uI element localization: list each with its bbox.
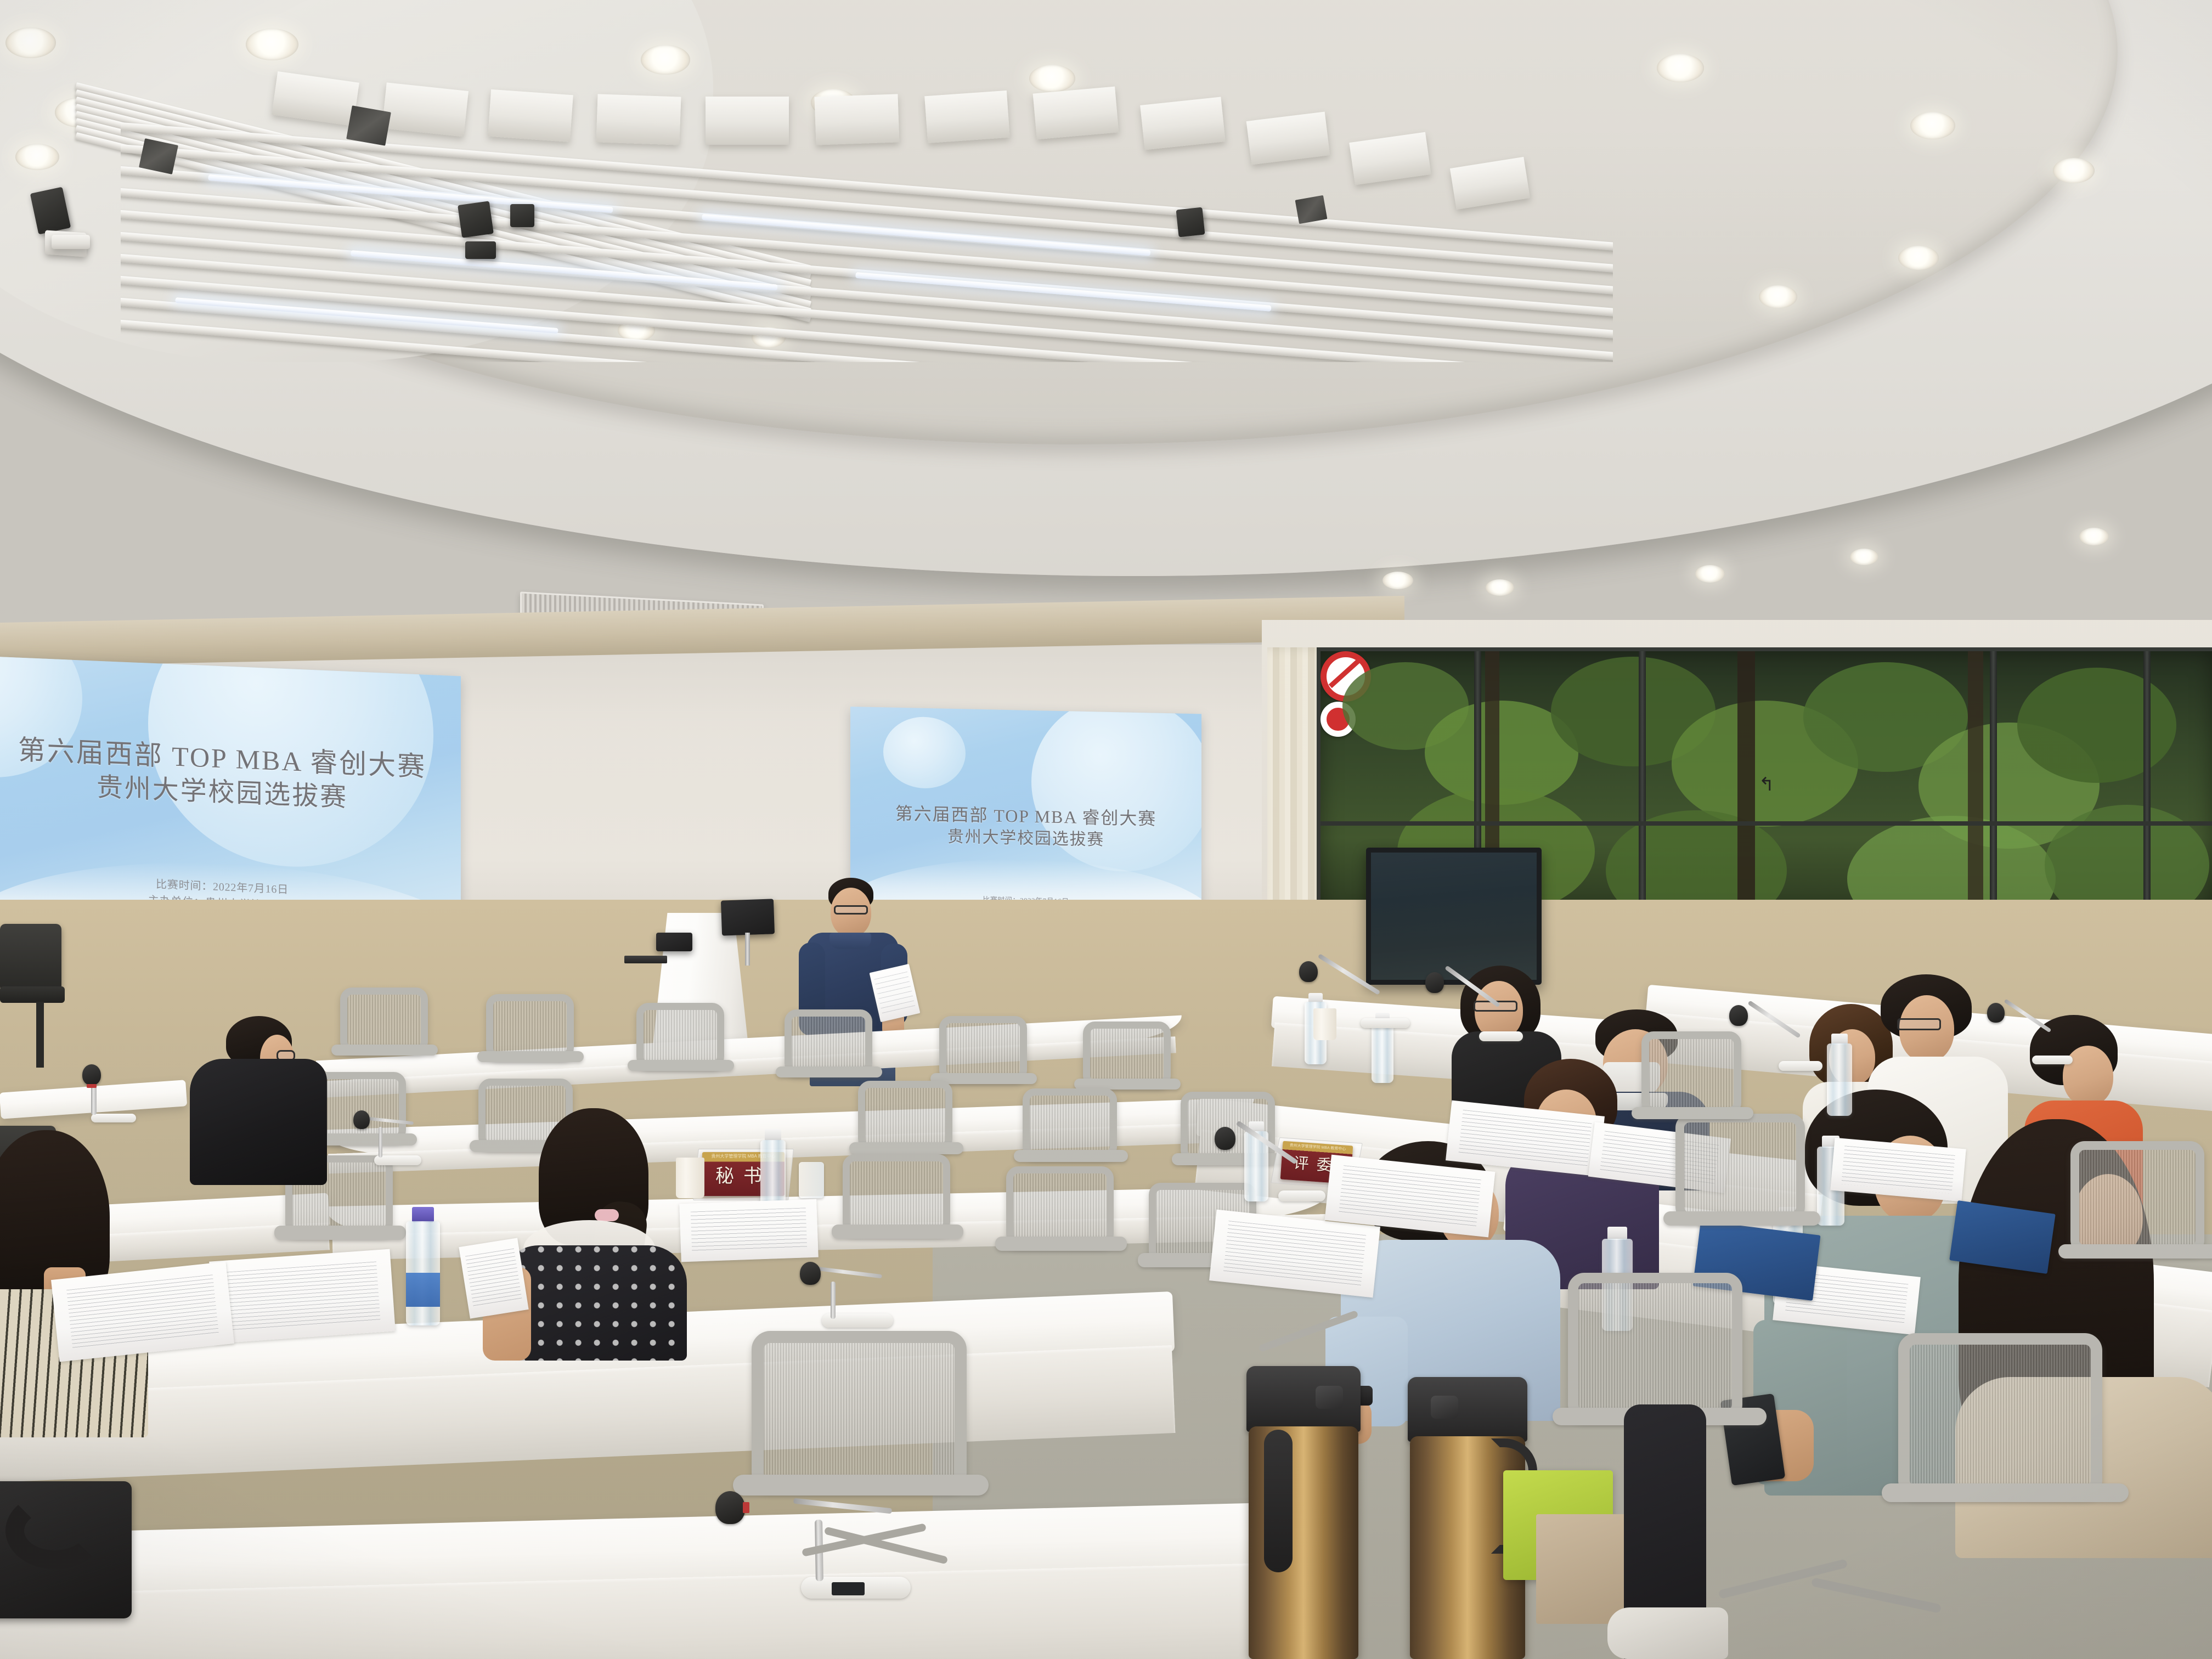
downlight-icon	[1695, 565, 1725, 583]
chair[interactable]	[1887, 1333, 2123, 1591]
ceiling-vent	[346, 105, 391, 146]
podium-monitor	[721, 899, 775, 935]
podium-monitor-arm	[745, 933, 750, 966]
downlight-icon	[1910, 112, 1955, 139]
microphone-head-icon	[1987, 1003, 2005, 1023]
desk-microphone[interactable]	[321, 1107, 420, 1173]
thermos-handle[interactable]	[1264, 1430, 1293, 1572]
downlight-icon	[1486, 579, 1514, 596]
thermos-flask-1[interactable]	[1249, 1366, 1358, 1659]
downlight-icon	[246, 29, 298, 60]
water-bottle[interactable]	[760, 1129, 786, 1211]
person-shoe	[1607, 1607, 1728, 1659]
desk-microphone[interactable]	[1207, 1125, 1328, 1212]
chair[interactable]	[630, 1003, 732, 1096]
downlight-icon	[1850, 549, 1878, 565]
downlight-icon	[1759, 285, 1797, 308]
mic-control-panel[interactable]	[832, 1582, 865, 1595]
chair[interactable]	[998, 1166, 1124, 1280]
thermos-spout	[1316, 1386, 1343, 1409]
microphone-head-icon	[1299, 961, 1318, 982]
downlight-icon	[641, 45, 690, 75]
desk-microphone[interactable]	[702, 1483, 900, 1610]
microphone-head-icon	[82, 1064, 101, 1085]
sanitizer-bottle[interactable]	[799, 1162, 824, 1198]
ceiling-slat-field	[121, 110, 1613, 362]
desk-microphone[interactable]	[55, 1064, 143, 1130]
downlight-icon	[15, 144, 59, 170]
desk-microphone[interactable]	[751, 1256, 888, 1339]
lecture-hall-photo: ↰ 第六届西部 TOP MBA 睿创大赛 贵州大学校园选拔赛 比赛时间：2022…	[0, 0, 2212, 1659]
water-bottle[interactable]	[1827, 1034, 1852, 1116]
thermos-spout	[1431, 1396, 1458, 1419]
ceiling-speaker	[1176, 207, 1205, 238]
thermos-lid[interactable]	[1408, 1377, 1527, 1442]
desk-microphone[interactable]	[1413, 970, 1523, 1052]
water-bottle-ganten[interactable]	[406, 1207, 440, 1325]
podium-side-panel	[656, 933, 692, 951]
paper-sheet[interactable]	[679, 1199, 819, 1262]
chair[interactable]	[479, 994, 582, 1087]
desk-microphone[interactable]	[1977, 1002, 2076, 1073]
downlight-icon	[1898, 246, 1939, 270]
desk-microphone[interactable]	[1289, 958, 1410, 1040]
ceiling-speaker	[465, 241, 496, 259]
student-6-glasses-icon	[1897, 1018, 1941, 1030]
presenter-glasses-icon	[834, 905, 868, 915]
downlight-icon	[2079, 528, 2109, 545]
chair[interactable]	[1635, 1031, 1750, 1158]
chair-black-leg	[36, 1002, 44, 1068]
chair-black[interactable]	[0, 924, 61, 992]
microphone-head-icon	[715, 1491, 745, 1524]
downlight-icon	[5, 27, 56, 58]
chair[interactable]	[334, 988, 436, 1081]
chair[interactable]	[835, 1154, 960, 1268]
paper-cup[interactable]	[676, 1158, 704, 1198]
chair-black-seat	[0, 986, 65, 1003]
student-2	[477, 1108, 708, 1361]
projector-left-mount	[52, 235, 90, 249]
ceiling-speaker	[510, 204, 534, 227]
thermos-lid[interactable]	[1246, 1366, 1361, 1432]
podium-shelf	[624, 956, 667, 963]
student-2-hairtie	[595, 1209, 619, 1221]
led-tube-light-icon	[702, 214, 1150, 256]
microphone-head-icon	[1729, 1005, 1748, 1026]
downlight-icon	[1657, 54, 1704, 82]
downlight-icon	[2053, 158, 2095, 183]
microphone-head-icon	[353, 1110, 370, 1129]
microphone-head-icon	[1425, 972, 1444, 993]
cardboard-box	[1536, 1514, 1635, 1624]
presenter-collar	[830, 933, 871, 949]
paper-sheet[interactable]	[209, 1249, 396, 1344]
downlight-icon	[1383, 572, 1413, 589]
microphone-head-icon	[1215, 1127, 1235, 1150]
bottle-label	[406, 1273, 440, 1307]
ceiling-vent	[1295, 195, 1328, 224]
microphone-head-icon	[800, 1262, 821, 1285]
bag-strap	[5, 1492, 104, 1569]
ceiling-speaker	[458, 201, 494, 238]
student-1-torso	[190, 1059, 327, 1185]
student-1	[178, 1016, 342, 1192]
chair[interactable]	[2063, 1141, 2212, 1317]
downlight-icon	[1029, 65, 1075, 92]
student-2-paper	[459, 1238, 528, 1318]
